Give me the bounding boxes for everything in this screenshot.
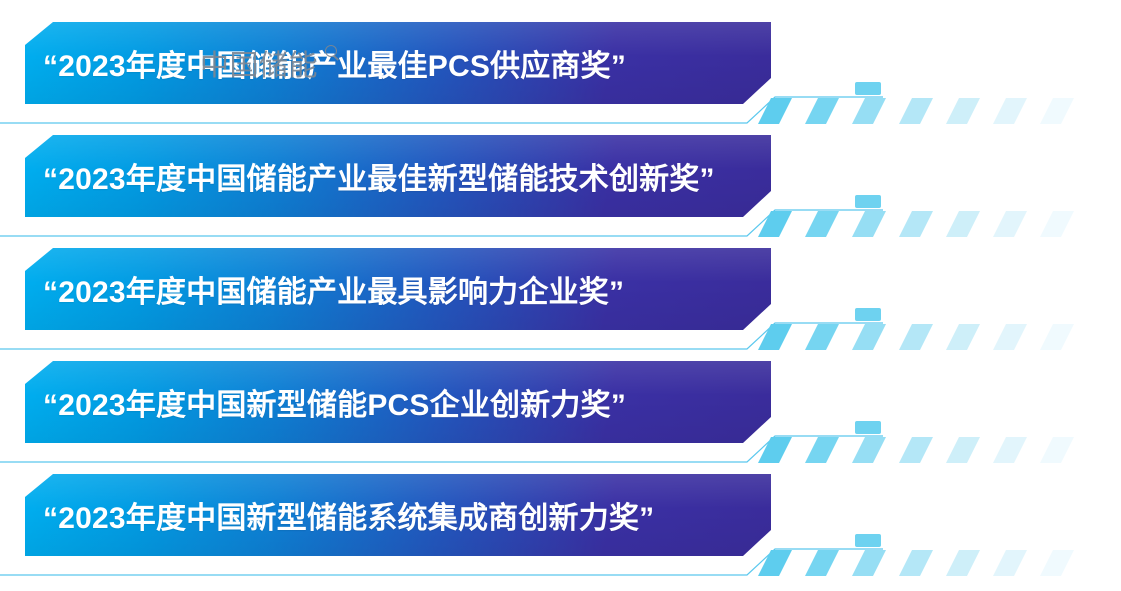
- award-row: “2023年度中国储能产业最佳PCS供应商奖” 中国储能: [0, 22, 1121, 135]
- stripe-decoration: [758, 211, 1118, 237]
- stripe-7: [1040, 550, 1074, 576]
- stripe-5: [946, 550, 980, 576]
- stripe-6: [993, 324, 1027, 350]
- stripe-5: [946, 98, 980, 124]
- trace-node-tab: [855, 82, 881, 95]
- trace-node-tab: [855, 421, 881, 434]
- stripe-1: [758, 211, 792, 237]
- stripe-1: [758, 550, 792, 576]
- award-plate: [25, 135, 771, 217]
- stripe-4: [899, 437, 933, 463]
- award-row: “2023年度中国新型储能系统集成商创新力奖”: [0, 474, 1121, 587]
- stripe-2: [805, 98, 839, 124]
- trace-node-tab: [855, 308, 881, 321]
- award-row: “2023年度中国储能产业最佳新型储能技术创新奖”: [0, 135, 1121, 248]
- stripe-4: [899, 98, 933, 124]
- stripe-2: [805, 324, 839, 350]
- stripe-2: [805, 550, 839, 576]
- stripe-1: [758, 98, 792, 124]
- stripe-5: [946, 324, 980, 350]
- stripe-7: [1040, 437, 1074, 463]
- trace-node-tab: [855, 534, 881, 547]
- stripe-7: [1040, 324, 1074, 350]
- stripe-6: [993, 98, 1027, 124]
- trace-node-tab: [855, 195, 881, 208]
- stripe-3: [852, 211, 886, 237]
- stripe-5: [946, 211, 980, 237]
- award-plate: [25, 474, 771, 556]
- stripe-7: [1040, 211, 1074, 237]
- stripe-1: [758, 324, 792, 350]
- stripe-4: [899, 324, 933, 350]
- stripe-2: [805, 211, 839, 237]
- stripe-decoration: [758, 324, 1118, 350]
- stripe-3: [852, 324, 886, 350]
- stripe-4: [899, 211, 933, 237]
- stripe-1: [758, 437, 792, 463]
- stripe-6: [993, 550, 1027, 576]
- stripe-3: [852, 550, 886, 576]
- stripe-6: [993, 211, 1027, 237]
- award-plate: [25, 248, 771, 330]
- stripe-decoration: [758, 98, 1118, 124]
- stripe-3: [852, 98, 886, 124]
- stripe-4: [899, 550, 933, 576]
- stripe-3: [852, 437, 886, 463]
- award-plate: [25, 22, 771, 104]
- stripe-decoration: [758, 550, 1118, 576]
- stripe-7: [1040, 98, 1074, 124]
- award-row: “2023年度中国储能产业最具影响力企业奖”: [0, 248, 1121, 361]
- stripe-2: [805, 437, 839, 463]
- award-row: “2023年度中国新型储能PCS企业创新力奖”: [0, 361, 1121, 474]
- stripe-6: [993, 437, 1027, 463]
- stripe-decoration: [758, 437, 1118, 463]
- stripe-5: [946, 437, 980, 463]
- award-plate: [25, 361, 771, 443]
- award-banner-board: “2023年度中国储能产业最佳PCS供应商奖” 中国储能 “2023年度中国储能…: [0, 0, 1121, 591]
